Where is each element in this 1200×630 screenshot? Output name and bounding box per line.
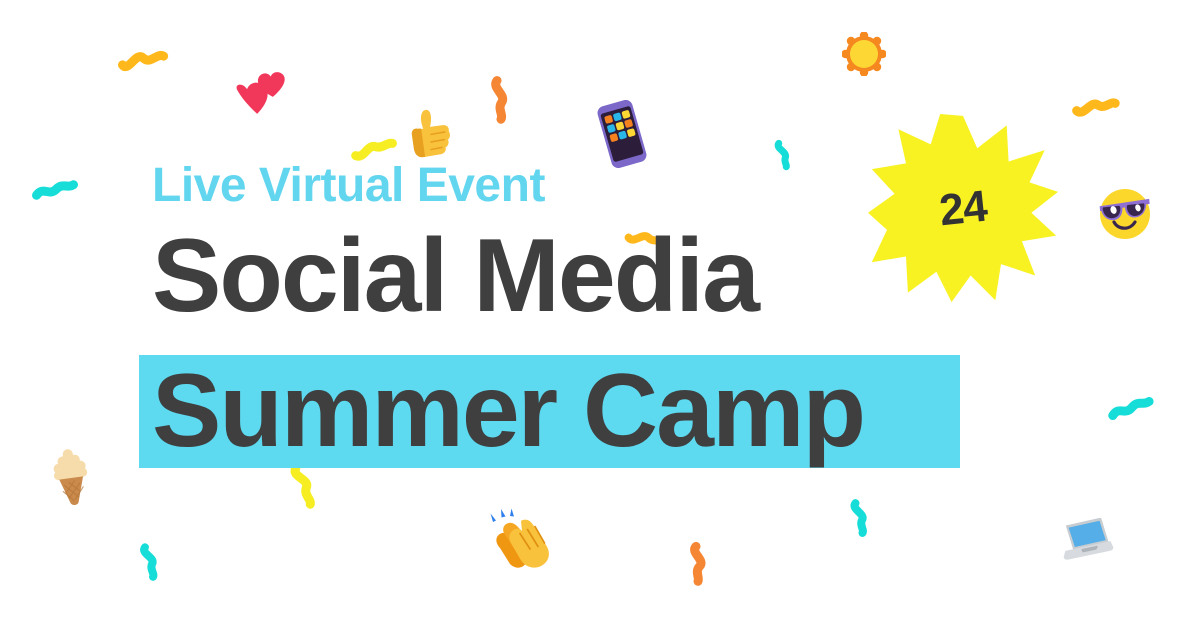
confetti-squiggle-yellow-2 [288, 462, 319, 509]
laptop-emoji [1056, 518, 1114, 562]
promo-poster: 24 Live Virtual Event Social Media Summe… [0, 0, 1200, 630]
confetti-squiggle-cyan-5 [849, 500, 870, 537]
headline-line-1: Social Media [152, 226, 758, 328]
starburst-badge: 24 [866, 114, 1060, 304]
clapping-hands-emoji [484, 508, 562, 570]
ice-cream-emoji [48, 446, 94, 508]
confetti-squiggle-orange-4 [1073, 92, 1119, 119]
headline-text-block: Live Virtual Event Social Media [152, 162, 758, 328]
two-hearts-emoji [232, 68, 304, 124]
headline-line-2: Summer Camp [152, 356, 864, 466]
confetti-squiggle-orange-2 [486, 77, 514, 123]
sun-emoji [842, 32, 886, 76]
badge-number: 24 [857, 104, 1070, 313]
confetti-squiggle-cyan-3 [1108, 391, 1153, 425]
thumbs-up-emoji [406, 106, 454, 162]
sunglasses-face-emoji [1096, 184, 1154, 242]
confetti-squiggle-cyan-4 [139, 543, 161, 580]
confetti-squiggle-orange-1 [119, 46, 167, 77]
confetti-squiggle-cyan-2 [772, 139, 793, 171]
mobile-phone-emoji [596, 100, 648, 168]
confetti-squiggle-orange-5 [683, 542, 714, 586]
confetti-squiggle-cyan-1 [32, 172, 79, 208]
eyebrow-label: Live Virtual Event [152, 162, 758, 210]
